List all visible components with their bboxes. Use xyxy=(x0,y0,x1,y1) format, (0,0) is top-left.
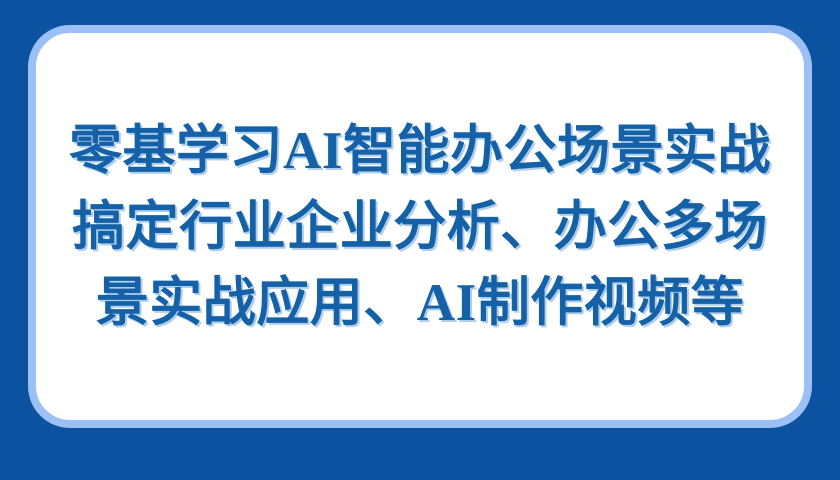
headline-card-content: 零基学习AI智能办公场景实战 搞定行业企业分析、办公多场 景实战应用、AI制作视… xyxy=(36,33,804,420)
headline-card: 零基学习AI智能办公场景实战 搞定行业企业分析、办公多场 景实战应用、AI制作视… xyxy=(28,25,812,428)
headline-line-1: 零基学习AI智能办公场景实战 xyxy=(46,113,794,189)
headline-line-2: 搞定行业企业分析、办公多场 xyxy=(46,189,794,265)
headline-line-3: 景实战应用、AI制作视频等 xyxy=(46,265,794,341)
poster-background: 零基学习AI智能办公场景实战 搞定行业企业分析、办公多场 景实战应用、AI制作视… xyxy=(0,0,840,480)
